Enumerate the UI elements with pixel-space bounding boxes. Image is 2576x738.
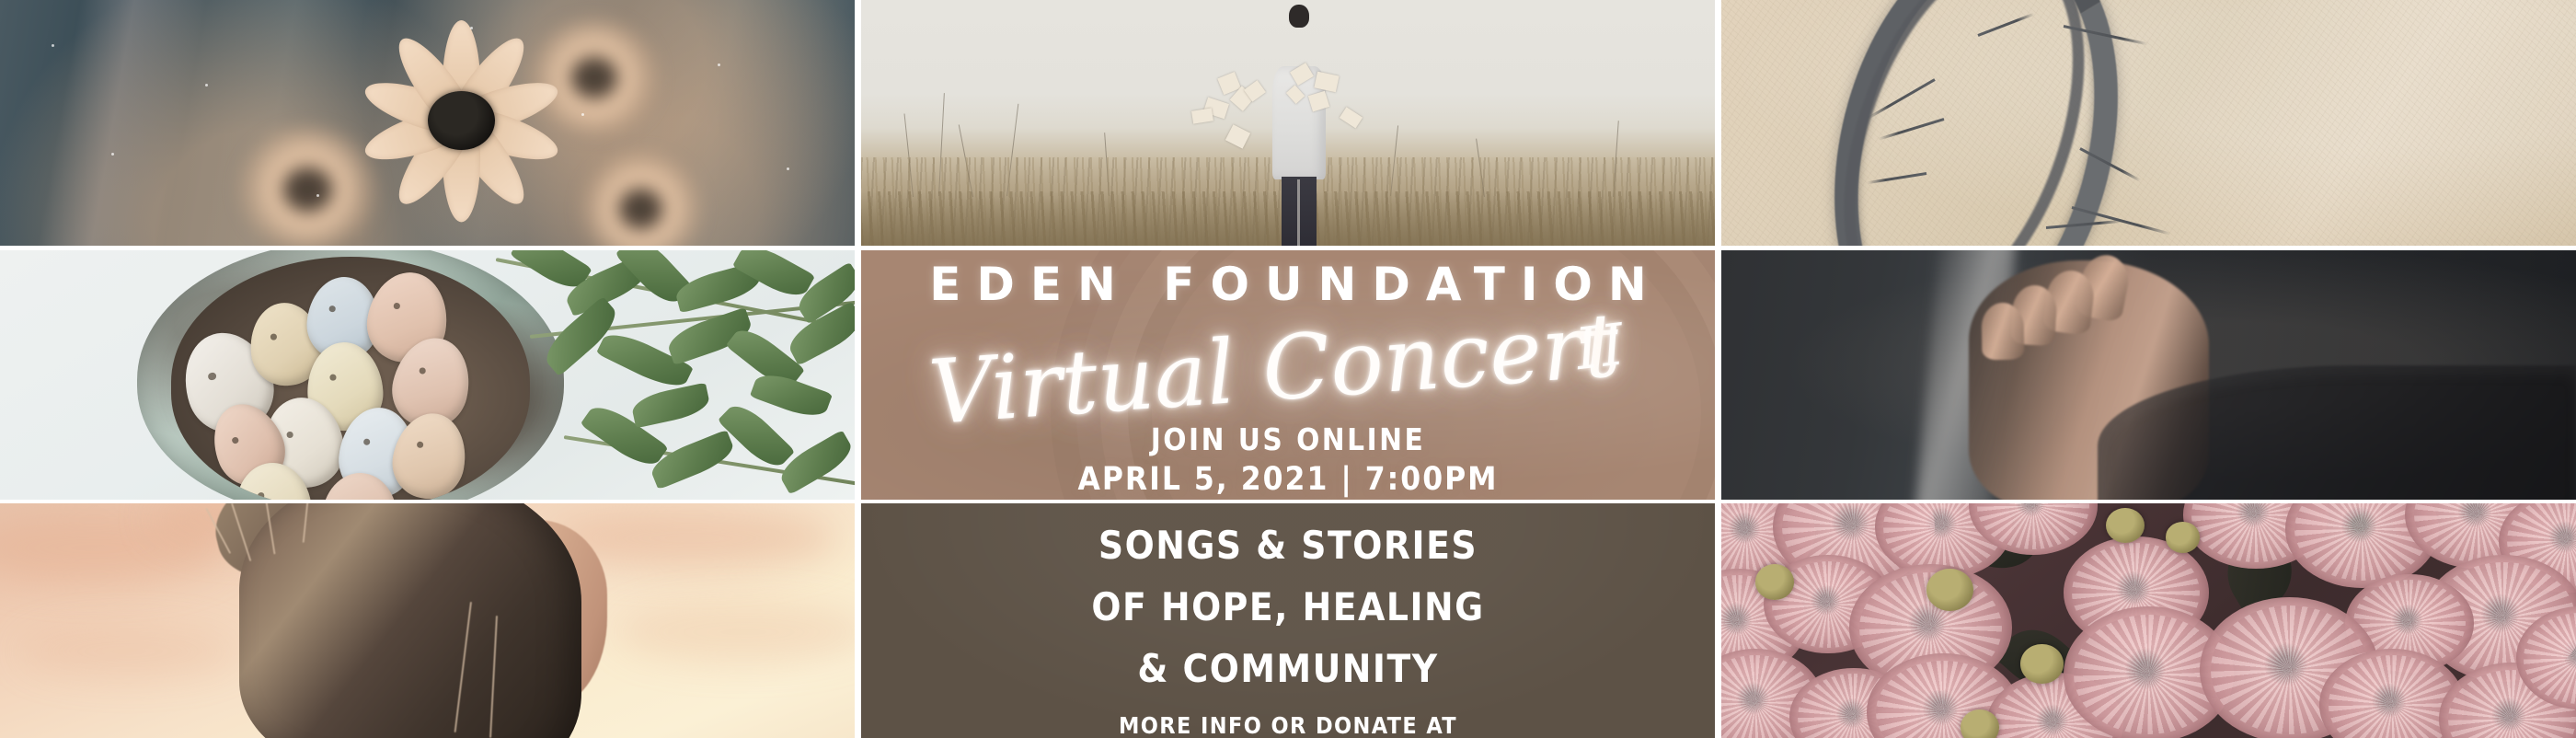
flying-paper	[1308, 91, 1330, 112]
photo-top-right-crown-of-thorns	[1721, 0, 2576, 246]
photo-bottom-left-woman-sunset	[0, 503, 855, 738]
daisy-flower	[351, 7, 573, 234]
photo-bottom-right-peonies	[1721, 503, 2576, 738]
bowl-interior	[171, 257, 530, 500]
photo-mid-right-praying-hands	[1721, 250, 2576, 500]
concert-script-title: Virtual Concert	[926, 301, 1622, 437]
flying-paper	[1191, 108, 1213, 124]
photo-top-left-daisy	[0, 0, 855, 246]
concert-info-panel: EDEN FOUNDATION Virtual Concert II JOIN …	[861, 250, 1715, 500]
daisy-core	[428, 91, 494, 150]
donate-prompt: MORE INFO OR DONATE AT	[1119, 712, 1457, 738]
tagline-line-2: OF HOPE, HEALING	[1091, 588, 1484, 627]
blurred-flower-shape	[581, 153, 701, 246]
person-legs	[1282, 177, 1317, 246]
flying-paper	[1340, 108, 1363, 129]
tagline-panel: SONGS & STORIES OF HOPE, HEALING & COMMU…	[861, 503, 1715, 738]
tagline-line-1: SONGS & STORIES	[1098, 526, 1478, 565]
event-date-time: APRIL 5, 2021 | 7:00PM	[1077, 463, 1498, 498]
join-online-text: JOIN US ONLINE	[1151, 423, 1425, 456]
photo-mid-left-eggs-bowl	[0, 250, 855, 500]
tagline-line-3: & COMMUNITY	[1137, 650, 1438, 688]
person-head	[1289, 5, 1309, 28]
ceramic-bowl	[137, 250, 565, 500]
flying-paper	[1225, 124, 1251, 149]
eden-foundation-concert-banner: EDEN FOUNDATION Virtual Concert II JOIN …	[0, 0, 2576, 738]
photo-top-middle-field-man	[861, 0, 1715, 246]
concert-edition-numeral: II	[1572, 316, 1629, 378]
hair	[239, 503, 581, 738]
